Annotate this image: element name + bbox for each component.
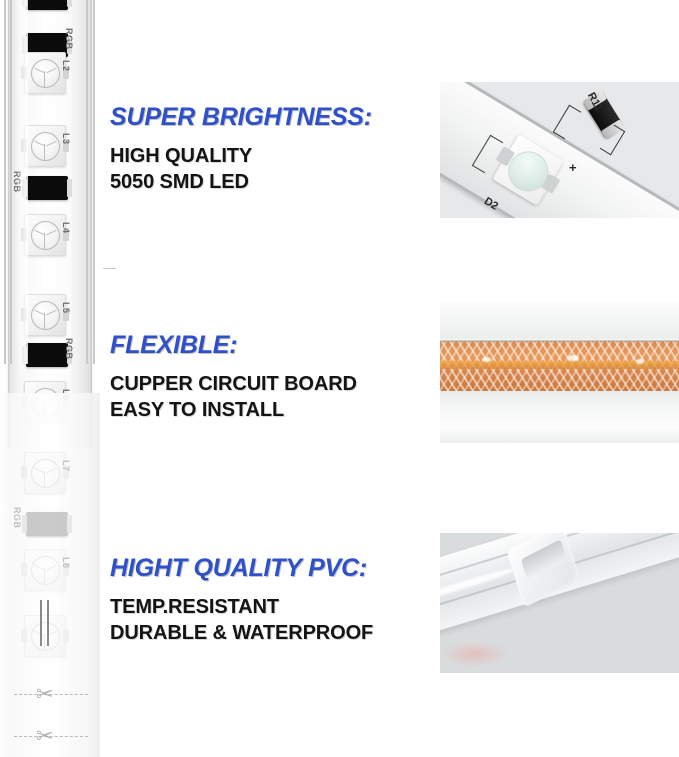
strip-label-l2: L2 [61, 60, 71, 72]
led-chip-l9 [24, 615, 66, 657]
strip-label-rgb: RGB [12, 507, 22, 529]
sleeve-gloss [16, 0, 28, 364]
feature-line: 5050 SMD LED [110, 170, 372, 196]
feature-heading: FLEXIBLE: [110, 331, 357, 360]
strip-label-l7: L7 [61, 460, 71, 472]
strip-label-l5: L5 [61, 302, 71, 314]
solder-pad [67, 515, 72, 533]
scissors-icon: ✂ [36, 724, 54, 750]
cut-mark: ✂ [14, 680, 88, 710]
copper-highlight [636, 359, 644, 364]
led-chip-l5 [24, 294, 66, 336]
separator-tick [103, 268, 116, 269]
feature-line: HIGH QUALITY [110, 144, 372, 170]
sleeve-seam [440, 340, 679, 342]
pvc-sleeve-photo [440, 533, 679, 673]
copper-braid-texture [440, 341, 679, 393]
cut-mark: ✂ [14, 722, 88, 752]
led-dome-icon [31, 459, 60, 488]
solder-pad [67, 0, 72, 7]
sleeve-rail [86, 0, 88, 364]
rgb-component-chip [26, 343, 68, 367]
sleeve-warm-reflection [440, 641, 510, 667]
rgb-component-chip [26, 176, 68, 200]
feature-block-brightness: SUPER BRIGHTNESS: HIGH QUALITY 5050 SMD … [110, 103, 372, 195]
lead-wire [47, 600, 49, 646]
silkscreen-plus: + [569, 160, 577, 175]
feature-line: CUPPER CIRCUIT BOARD [110, 372, 357, 398]
rgb-component-chip [26, 0, 68, 10]
led-dome-icon [31, 132, 60, 161]
solder-pad [22, 515, 27, 533]
strip-label-l8: L8 [61, 557, 71, 569]
led-chip-l2 [24, 52, 66, 94]
sleeve-rail [10, 0, 12, 364]
solder-pad [67, 179, 72, 197]
scissors-icon: ✂ [36, 682, 54, 708]
led-macro-photo: R11 D2 + [440, 82, 679, 218]
sleeve-rail [4, 0, 6, 364]
sleeve-rail [93, 0, 95, 364]
feature-block-flexible: FLEXIBLE: CUPPER CIRCUIT BOARD EASY TO I… [110, 331, 357, 423]
led-chip-l3 [24, 125, 66, 167]
sleeve-upper-wall [440, 303, 679, 339]
strip-label-l3: L3 [61, 133, 71, 145]
led-dome-icon [31, 622, 60, 651]
strip-label-l4: L4 [61, 222, 71, 234]
feature-line: EASY TO INSTALL [110, 398, 357, 424]
feature-heading: HIGHT QUALITY PVC: [110, 554, 373, 583]
strip-label-rgb: RGB [64, 28, 74, 50]
copper-highlight [568, 355, 579, 361]
led-chip-l7 [24, 452, 66, 494]
rgb-component-chip [26, 512, 68, 536]
led-dome-icon [31, 221, 60, 250]
sleeve-lower-wall [440, 391, 679, 443]
feature-block-pvc: HIGHT QUALITY PVC: TEMP.RESISTANT DURABL… [110, 554, 373, 646]
led-chip-l4 [24, 214, 66, 256]
strip-label-rgb: RGB [64, 338, 74, 360]
led-strip-diagram: RGB L2 L3 RGB L4 L5 RGB [0, 0, 100, 757]
led-dome-icon [31, 301, 60, 330]
led-dome-icon [31, 59, 60, 88]
feature-line: DURABLE & WATERPROOF [110, 621, 373, 647]
led-dome-icon [31, 556, 60, 585]
feature-heading: SUPER BRIGHTNESS: [110, 103, 372, 132]
feature-line: TEMP.RESISTANT [110, 595, 373, 621]
led-chip-l8 [24, 549, 66, 591]
pcb-right-edge [89, 0, 92, 448]
copper-board-photo [440, 303, 679, 443]
copper-highlight [482, 357, 491, 362]
lead-wire [40, 600, 42, 646]
